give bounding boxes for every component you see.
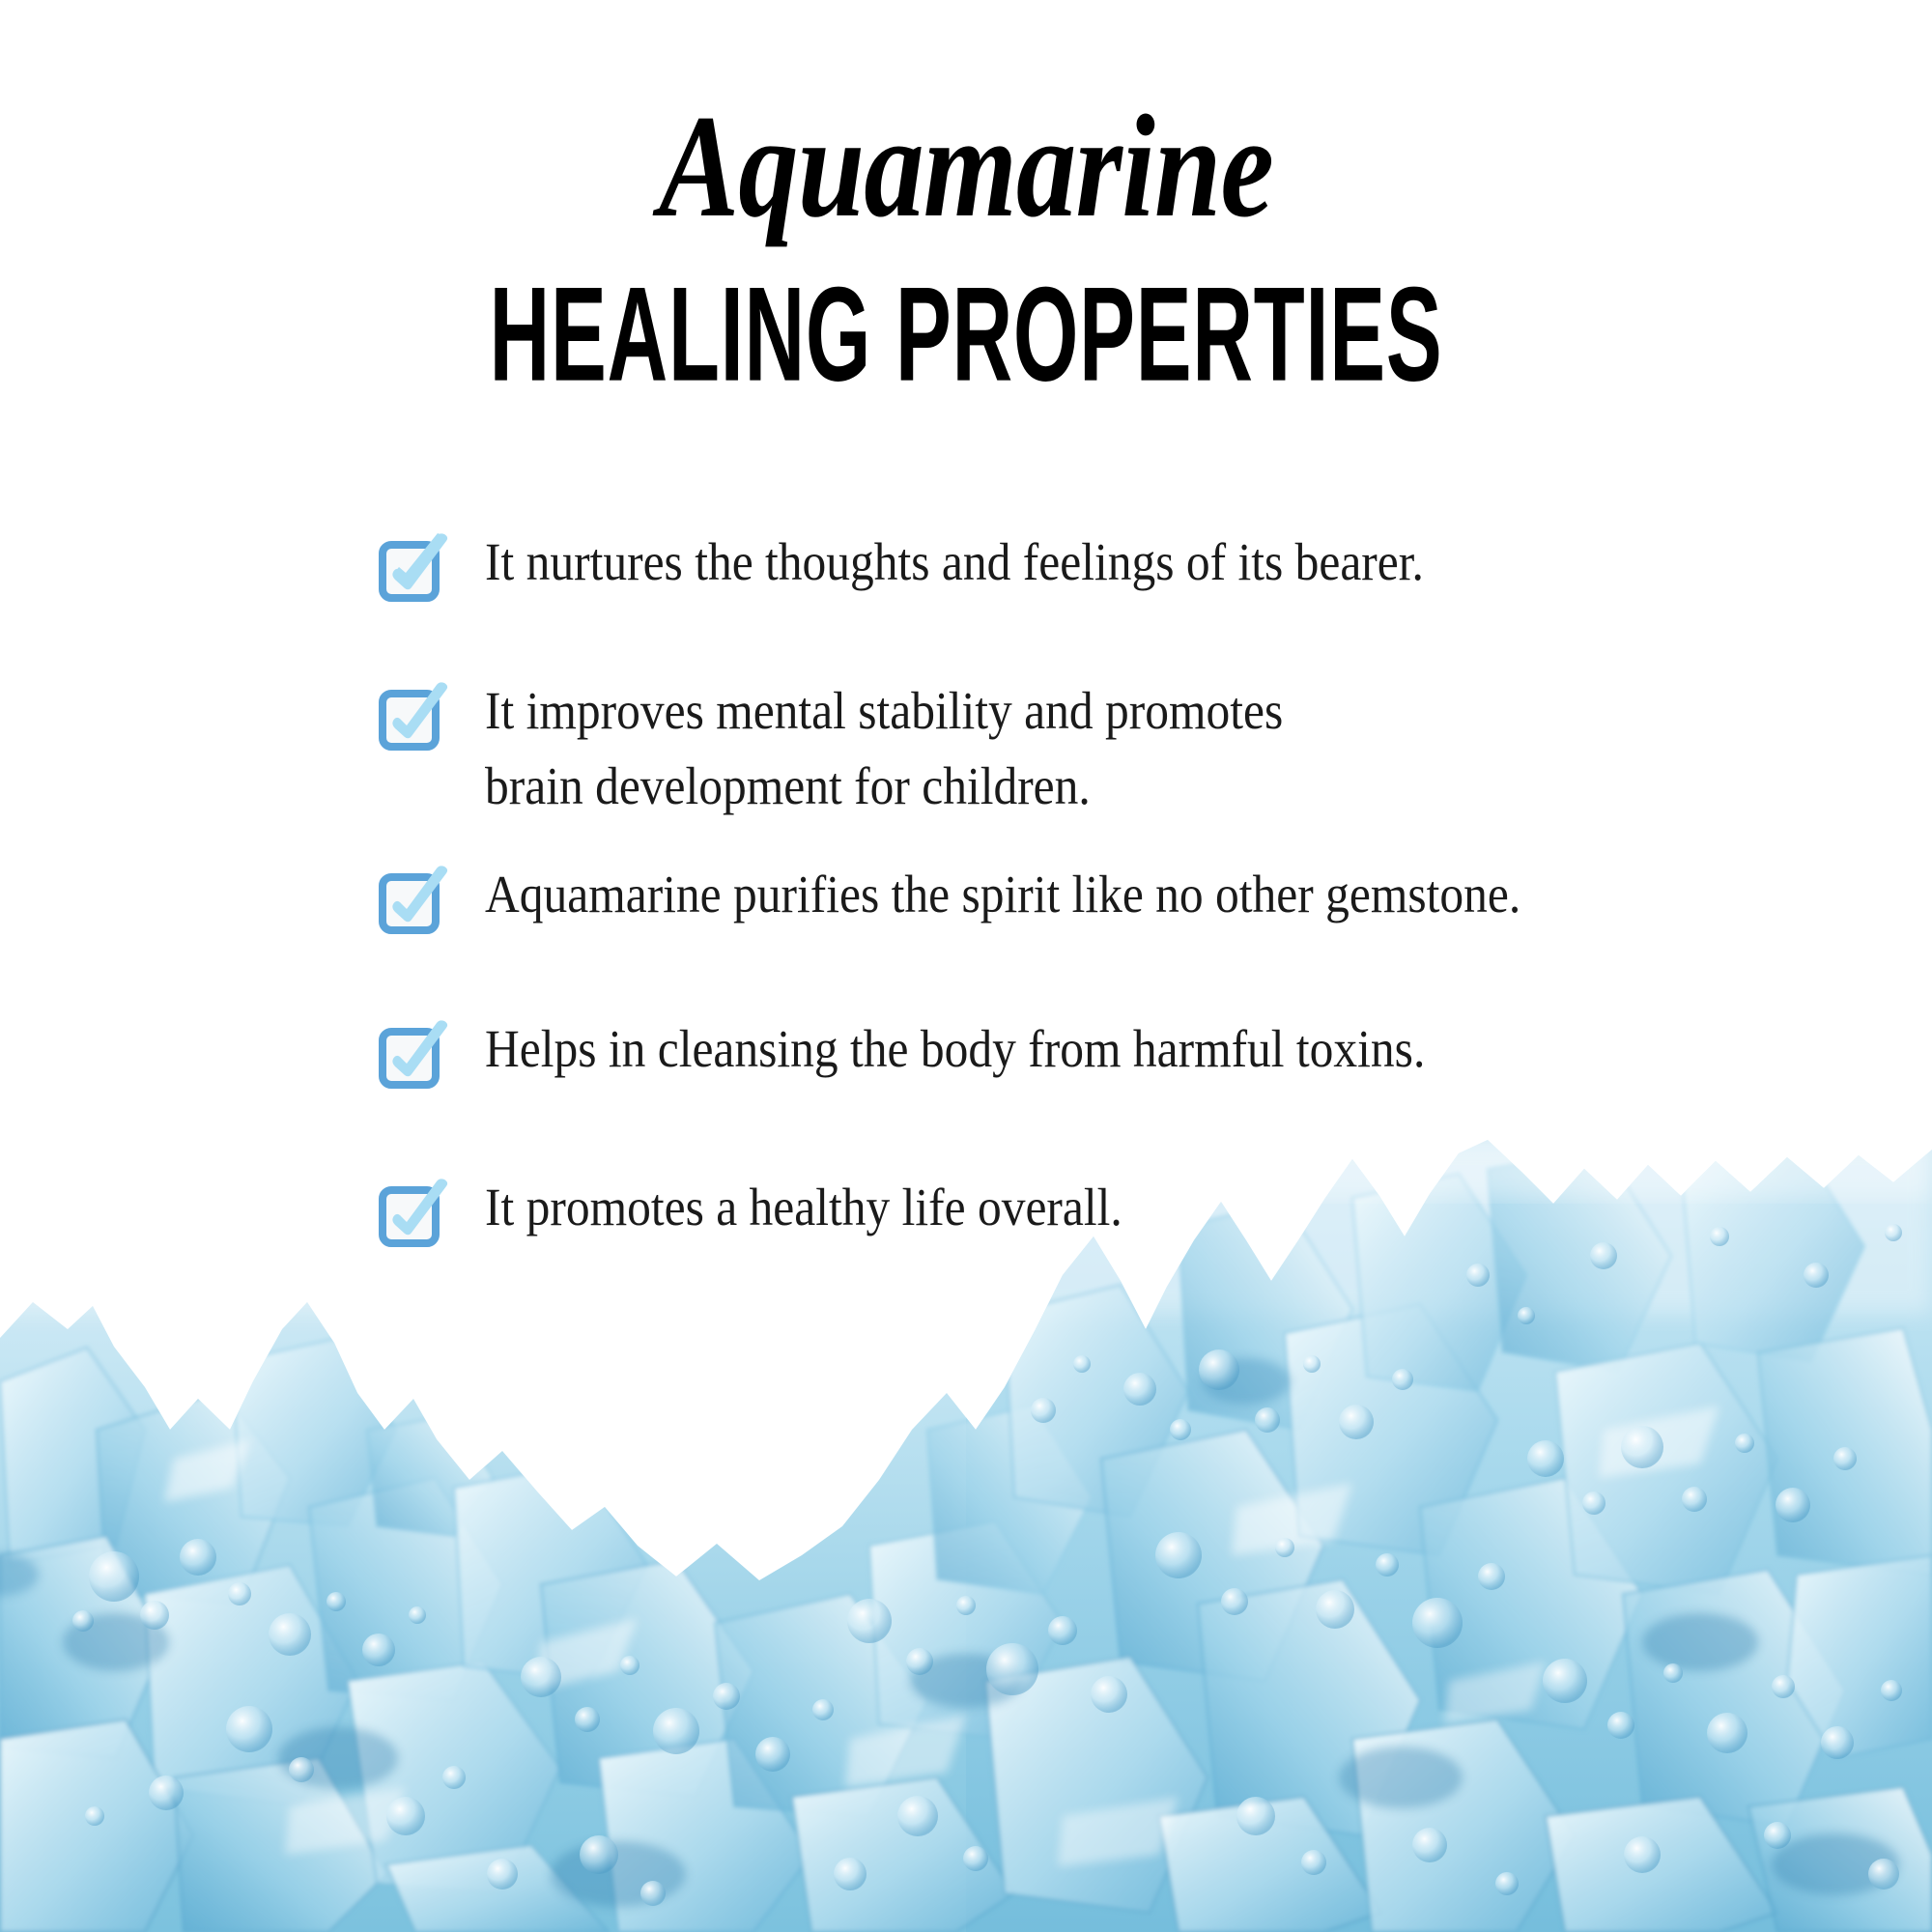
page-title: Aquamarine bbox=[174, 0, 1758, 240]
list-item: It nurtures the thoughts and feelings of… bbox=[379, 525, 1828, 600]
list-item-label: Helps in cleansing the body from harmful… bbox=[485, 1011, 1693, 1087]
poster-header: Aquamarine HEALING PROPERTIES bbox=[0, 0, 1932, 384]
poster-canvas: Aquamarine HEALING PROPERTIES It nurture… bbox=[0, 0, 1932, 1932]
checkbox-checked-icon bbox=[379, 865, 450, 936]
list-item: It improves mental stability and promote… bbox=[379, 673, 1828, 824]
ice-cubes-photo bbox=[0, 1140, 1932, 1932]
list-item: Aquamarine purifies the spirit like no o… bbox=[379, 857, 1828, 932]
list-item-label: It improves mental stability and promote… bbox=[485, 673, 1693, 824]
list-item-label: It nurtures the thoughts and feelings of… bbox=[485, 525, 1693, 600]
page-subtitle: HEALING PROPERTIES bbox=[290, 240, 1642, 402]
list-item-label: Aquamarine purifies the spirit like no o… bbox=[485, 857, 1693, 932]
checkbox-checked-icon bbox=[379, 1178, 450, 1249]
checkbox-checked-icon bbox=[379, 1019, 450, 1091]
healing-properties-list: It nurtures the thoughts and feelings of… bbox=[379, 525, 1828, 1246]
list-item: Helps in cleansing the body from harmful… bbox=[379, 1011, 1828, 1087]
checkbox-checked-icon bbox=[379, 681, 450, 753]
checkbox-checked-icon bbox=[379, 532, 450, 604]
list-item-label: It promotes a healthy life overall. bbox=[485, 1170, 1693, 1245]
list-item: It promotes a healthy life overall. bbox=[379, 1170, 1828, 1245]
